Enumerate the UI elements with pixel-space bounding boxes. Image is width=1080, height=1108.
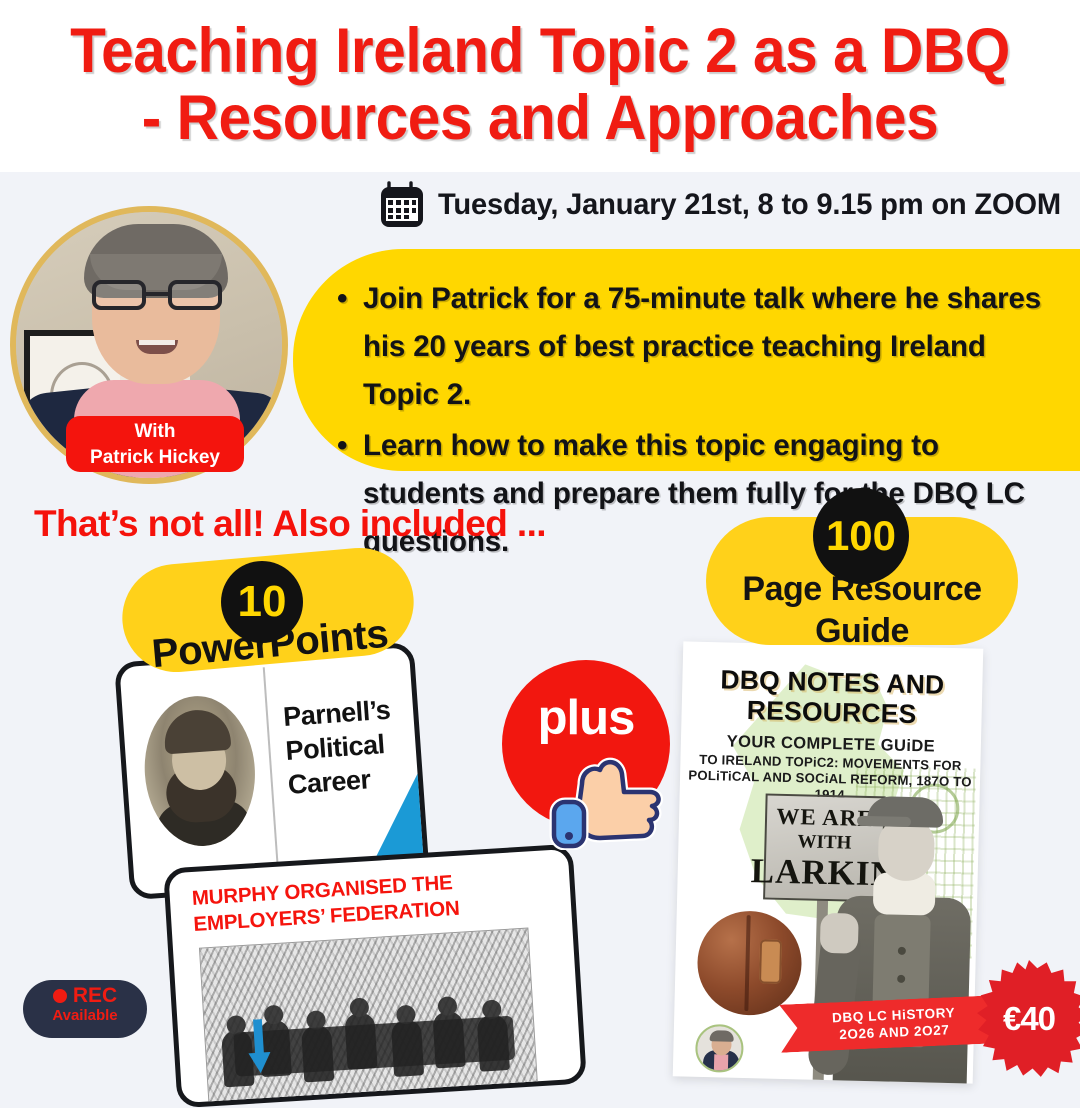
highlights-panel: Join Patrick for a 75-minute talk where … — [293, 249, 1080, 471]
plus-label: plus — [502, 690, 670, 746]
recording-badge: REC Available — [23, 980, 147, 1038]
poster-canvas: Teaching Ireland Topic 2 as a DBQ - Reso… — [0, 0, 1080, 1080]
page-title: Teaching Ireland Topic 2 as a DBQ - Reso… — [38, 18, 1042, 153]
event-date-text: Tuesday, January 21st, 8 to 9.15 pm on Z… — [438, 188, 1061, 222]
record-dot-icon — [53, 989, 67, 1003]
recording-status: REC — [23, 986, 147, 1006]
presenter-badge-line-2: Patrick Hickey — [66, 445, 244, 471]
recording-sub-label: Available — [23, 1006, 147, 1025]
resource-guide-count: 100 — [813, 488, 909, 584]
resource-guide-label-line-2: Guide — [700, 610, 1024, 652]
boardroom-engraving-image — [199, 928, 538, 1104]
pointing-hand-icon — [548, 748, 666, 850]
book-title: DBQ NOTES AND RESOURCES — [691, 664, 972, 731]
list-item: Join Patrick for a 75-minute talk where … — [337, 275, 1049, 419]
course-ribbon: DBQ LC HiSTORY 2O26 AND 2O27 — [779, 995, 997, 1052]
price-badge: €40 — [970, 960, 1080, 1078]
powerpoints-count: 10 — [221, 561, 303, 643]
calendar-icon — [378, 180, 426, 230]
recording-label: REC — [73, 986, 117, 1006]
presenter-badge-line-1: With — [66, 419, 244, 445]
author-thumbnail — [695, 1024, 744, 1073]
event-date-row: Tuesday, January 21st, 8 to 9.15 pm on Z… — [378, 180, 1080, 230]
slide-divider — [263, 667, 280, 885]
murphy-slide-card: MURPHY ORGANISED THE EMPLOYERS’ FEDERATI… — [163, 844, 587, 1108]
price-amount: €40 — [970, 960, 1080, 1078]
murphy-slide-title: MURPHY ORGANISED THE EMPLOYERS’ FEDERATI… — [191, 864, 561, 938]
glasses-icon — [92, 280, 222, 310]
parnell-portrait-icon — [140, 692, 260, 849]
page-title-line-1: Teaching Ireland Topic 2 as a DBQ — [38, 18, 1042, 85]
vintage-football-image — [696, 910, 803, 1017]
presenter-name-badge: With Patrick Hickey — [66, 416, 244, 472]
page-title-line-2: - Resources and Approaches — [38, 85, 1042, 152]
also-included-heading: That’s not all! Also included ... — [34, 503, 546, 545]
